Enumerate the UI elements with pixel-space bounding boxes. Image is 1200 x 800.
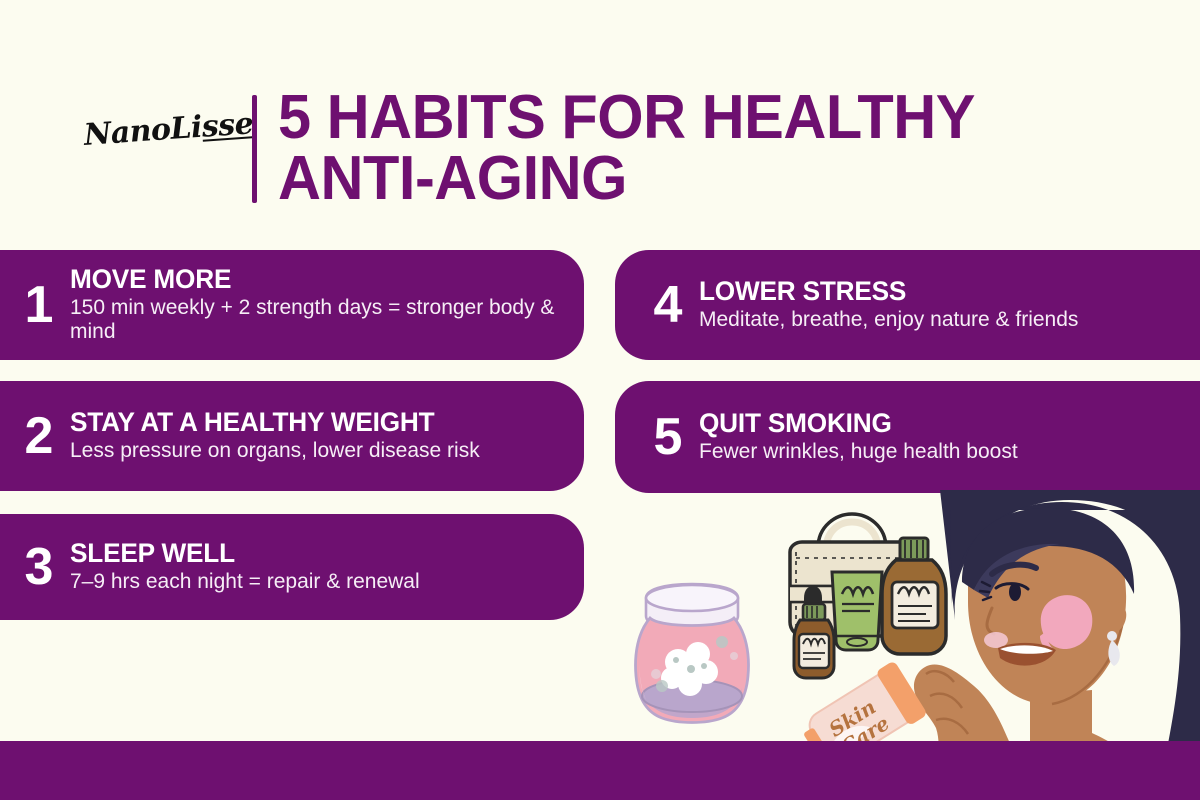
- habit-number-5: 5: [637, 411, 699, 463]
- habit-card-2: 2 STAY AT A HEALTHY WEIGHT Less pressure…: [0, 381, 584, 491]
- header: NanoLisse 5 HABITS FOR HEALTHY ANTI-AGIN…: [0, 0, 1200, 232]
- page-title: 5 HABITS FOR HEALTHY ANTI-AGING: [278, 88, 1104, 210]
- habit-title-4: LOWER STRESS: [699, 277, 1160, 306]
- habit-body-5: QUIT SMOKING Fewer wrinkles, huge health…: [699, 409, 1200, 464]
- habit-card-3: 3 SLEEP WELL 7–9 hrs each night = repair…: [0, 514, 584, 620]
- habit-card-5: 5 QUIT SMOKING Fewer wrinkles, huge heal…: [615, 381, 1200, 493]
- habit-number-2: 2: [8, 410, 70, 462]
- habit-description-4: Meditate, breathe, enjoy nature & friend…: [699, 308, 1174, 333]
- habit-description-1: 150 min weekly + 2 strength days = stron…: [70, 296, 558, 345]
- brand-logo-underlined: sse: [201, 106, 255, 144]
- title-divider-rule: [252, 95, 257, 203]
- habit-description-2: Less pressure on organs, lower disease r…: [70, 439, 558, 464]
- page-title-line-1: 5 HABITS FOR HEALTHY: [278, 83, 975, 152]
- brand-logo: NanoLisse: [83, 107, 245, 153]
- footer-bar: [0, 741, 1200, 800]
- habit-body-2: STAY AT A HEALTHY WEIGHT Less pressure o…: [70, 408, 584, 463]
- habit-title-3: SLEEP WELL: [70, 539, 543, 568]
- habit-body-1: MOVE MORE 150 min weekly + 2 strength da…: [70, 265, 584, 345]
- earring-stud: [1107, 631, 1117, 641]
- habit-body-4: LOWER STRESS Meditate, breathe, enjoy na…: [699, 277, 1200, 332]
- habit-body-3: SLEEP WELL 7–9 hrs each night = repair &…: [70, 539, 584, 594]
- habit-number-1: 1: [8, 279, 70, 331]
- brand-logo-prefix: NanoLi: [83, 110, 203, 153]
- habit-number-3: 3: [8, 541, 70, 593]
- habit-title-1: MOVE MORE: [70, 265, 543, 294]
- green-cosmetic-tube: [832, 572, 882, 650]
- infographic-canvas: NanoLisse 5 HABITS FOR HEALTHY ANTI-AGIN…: [0, 0, 1200, 800]
- habit-card-4: 4 LOWER STRESS Meditate, breathe, enjoy …: [615, 250, 1200, 360]
- habit-card-1: 1 MOVE MORE 150 min weekly + 2 strength …: [0, 250, 584, 360]
- pink-cream-jar: [636, 584, 749, 723]
- habit-description-3: 7–9 hrs each night = repair & renewal: [70, 570, 558, 595]
- habit-title-5: QUIT SMOKING: [699, 409, 1160, 438]
- habit-title-2: STAY AT A HEALTHY WEIGHT: [70, 408, 543, 437]
- page-title-line-2: ANTI-AGING: [278, 149, 1104, 210]
- habit-description-5: Fewer wrinkles, huge health boost: [699, 440, 1174, 465]
- habit-number-4: 4: [637, 279, 699, 331]
